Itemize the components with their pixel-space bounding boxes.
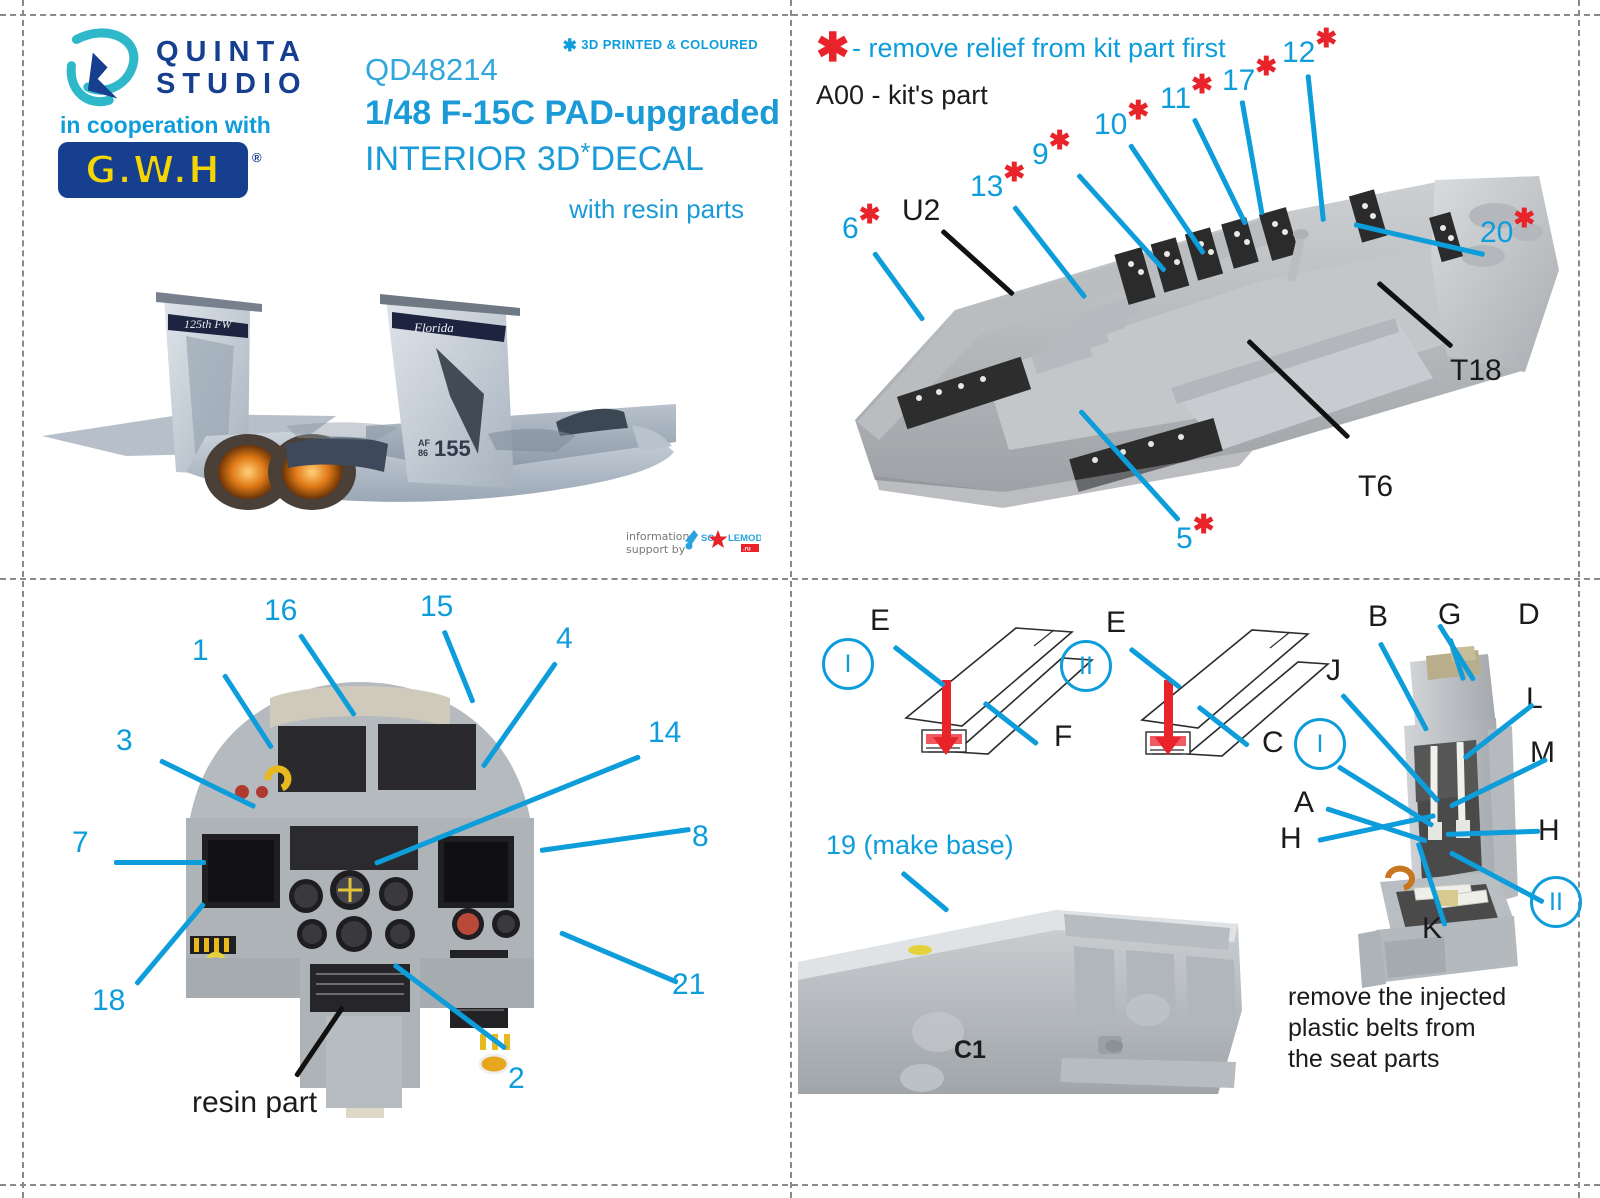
- star-icon: ✱: [1003, 157, 1025, 187]
- callout-16: 16: [264, 596, 297, 626]
- leader-7: [114, 860, 206, 865]
- star-icon: ✱: [1049, 125, 1071, 155]
- fuselage-base-photo: [798, 850, 1246, 1118]
- star-icon: ✱: [1127, 95, 1149, 125]
- callout-9: 9✱: [1032, 140, 1070, 170]
- assembly-arrow-2: [1164, 680, 1173, 738]
- star-icon: ✱: [1315, 23, 1337, 53]
- callout-4: 4: [556, 624, 573, 654]
- step-marker-2: II: [1060, 640, 1112, 692]
- callout-14: 14: [648, 718, 681, 748]
- quinta-q-swirl-icon: [60, 28, 142, 110]
- step-marker-1: I: [822, 638, 874, 690]
- product-code: QD48214: [365, 52, 498, 88]
- belt-label-E-1: E: [870, 606, 890, 636]
- callout-21: 21: [672, 970, 705, 1000]
- callout-8: 8: [692, 822, 709, 852]
- quinta-wordmark: QUINTA STUDIO: [156, 36, 308, 100]
- gwh-registered-mark: ®: [252, 150, 262, 165]
- callout-11: 11✱: [1160, 84, 1213, 114]
- seat-note-line1: remove the injected: [1288, 982, 1506, 1013]
- belt-label-F: F: [1054, 722, 1072, 752]
- callout-15: 15: [420, 592, 453, 622]
- callout-resin-part: resin part: [192, 1088, 317, 1118]
- info-support-line1: information: [626, 530, 690, 543]
- seat-label-K: K: [1422, 914, 1442, 944]
- scalemodels-logo: SC LEMODELS .ru: [683, 524, 761, 554]
- seat-label-D: D: [1518, 600, 1540, 630]
- seat-label-A: A: [1294, 788, 1314, 818]
- gwh-logo: G.W.H: [58, 142, 248, 198]
- callout-3: 3: [116, 726, 133, 756]
- brand-line-1: QUINTA: [156, 36, 308, 68]
- 3d-printed-badge: ✱ 3D PRINTED & COLOURED: [563, 34, 758, 54]
- part-code-c1: C1: [954, 1036, 986, 1065]
- badge-star-icon: ✱: [563, 36, 578, 55]
- seat-label-J: J: [1326, 656, 1341, 686]
- panel-belts-and-seat: I E F II E C 19 (make base): [790, 578, 1600, 1198]
- star-icon: ✱: [1193, 509, 1215, 539]
- callout-17: 17✱: [1222, 66, 1277, 96]
- panel-title-block: QUINTA STUDIO in cooperation with G.W.H …: [0, 0, 790, 578]
- svg-text:125th FW: 125th FW: [184, 317, 233, 331]
- callout-13: 13✱: [970, 172, 1025, 202]
- callout-t6: T6: [1358, 472, 1393, 502]
- star-icon: ✱: [1191, 69, 1213, 99]
- title-star-icon: *: [580, 137, 590, 167]
- belt-label-E-2: E: [1106, 608, 1126, 638]
- seat-note-line3: the seat parts: [1288, 1044, 1506, 1075]
- callout-18: 18: [92, 986, 125, 1016]
- star-icon: ✱: [1513, 203, 1535, 233]
- tail-band-text: Florida: [413, 320, 454, 335]
- title-post: DECAL: [590, 140, 703, 178]
- star-icon: ✱: [859, 199, 881, 229]
- legend-star-note: - remove relief from kit part first: [852, 33, 1226, 64]
- callout-12: 12✱: [1282, 38, 1337, 68]
- title-pre: INTERIOR 3D: [365, 140, 580, 178]
- seat-label-B: B: [1368, 602, 1388, 632]
- legend-star-icon: ✱: [816, 28, 850, 68]
- seat-belts-note: remove the injected plastic belts from t…: [1288, 982, 1506, 1075]
- info-support-label: information support by: [626, 530, 690, 556]
- callout-7: 7: [72, 828, 89, 858]
- info-support-line2: support by: [626, 543, 690, 556]
- svg-text:LEMODELS: LEMODELS: [728, 533, 761, 544]
- brand-line-2: STUDIO: [156, 68, 308, 100]
- panel-cockpit-tub: ✱ - remove relief from kit part first A0…: [790, 0, 1600, 578]
- callout-t18: T18: [1450, 356, 1502, 386]
- callout-6: 6✱: [842, 214, 880, 244]
- cockpit-tub-photo: [835, 120, 1595, 540]
- gwh-wordmark: G.W.H: [85, 148, 221, 192]
- seat-label-H-right: H: [1538, 816, 1560, 846]
- leader-21: [559, 930, 679, 985]
- product-title-line1: 1/48 F-15C PAD-upgraded: [365, 94, 780, 133]
- callout-10: 10✱: [1094, 110, 1149, 140]
- callout-2: 2: [508, 1064, 525, 1094]
- product-subtitle: with resin parts: [569, 194, 744, 225]
- svg-text:.ru: .ru: [743, 547, 751, 553]
- cooperation-label: in cooperation with: [60, 112, 271, 139]
- svg-text:86: 86: [418, 448, 428, 458]
- callout-u2: U2: [902, 196, 940, 226]
- svg-text:AF: AF: [418, 438, 430, 448]
- callout-20: 20✱: [1480, 218, 1535, 248]
- aircraft-photo: 125th FW Florida 155 AF 86: [36, 276, 676, 526]
- tail-number: 155: [434, 436, 471, 461]
- assembly-arrow-1: [942, 680, 951, 738]
- seat-label-H-left: H: [1280, 824, 1302, 854]
- belt-label-C: C: [1262, 728, 1284, 758]
- panel-instrument-panel: 16 15 4 1 3 14 7 8 18 21 2 resin part: [0, 578, 790, 1198]
- instruction-sheet: QUINTA STUDIO in cooperation with G.W.H …: [0, 0, 1600, 1198]
- callout-1: 1: [192, 636, 209, 666]
- badge-text: 3D PRINTED & COLOURED: [581, 37, 758, 52]
- star-icon: ✱: [1255, 51, 1277, 81]
- product-title-line2: INTERIOR 3D*DECAL: [365, 140, 704, 179]
- callout-5: 5✱: [1176, 524, 1214, 554]
- seat-note-line2: plastic belts from: [1288, 1013, 1506, 1044]
- legend-kit-note: A00 - kit's part: [816, 80, 988, 111]
- seat-step-marker-1: I: [1294, 718, 1346, 770]
